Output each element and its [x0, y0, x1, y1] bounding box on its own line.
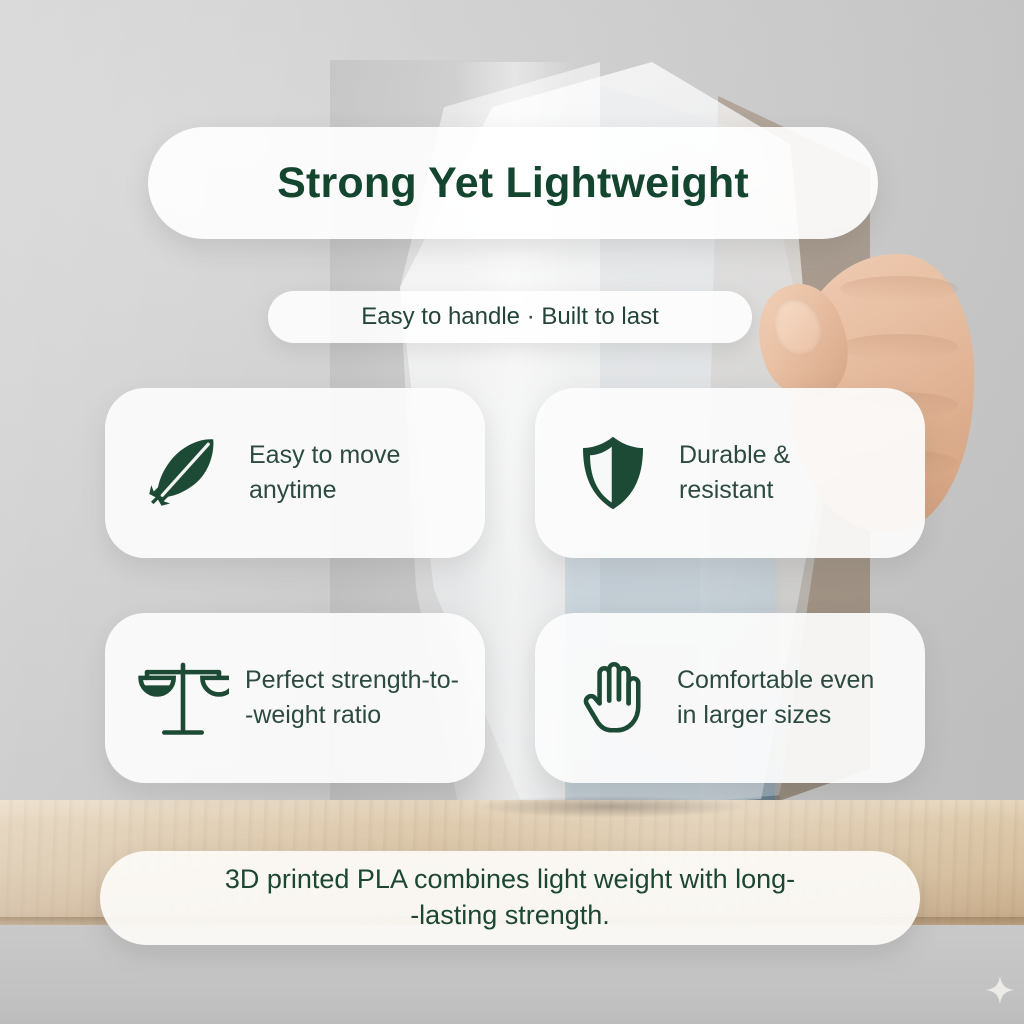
- feature-card-comfortable[interactable]: Comfortable even in larger sizes: [535, 613, 925, 783]
- feature-card-strength-to-weight[interactable]: Perfect strength-to- -weight ratio: [105, 613, 485, 783]
- feature-label: Easy to move anytime: [249, 438, 400, 509]
- caption-text: 3D printed PLA combines light weight wit…: [225, 862, 795, 934]
- feature-label: Comfortable even in larger sizes: [677, 663, 874, 734]
- feature-card-easy-to-move[interactable]: Easy to move anytime: [105, 388, 485, 558]
- caption-pill: 3D printed PLA combines light weight wit…: [100, 851, 920, 945]
- feature-card-durable[interactable]: Durable & resistant: [535, 388, 925, 558]
- shield-icon: [565, 425, 661, 521]
- feature-label: Perfect strength-to- -weight ratio: [245, 663, 463, 734]
- balance-scale-icon: [135, 650, 231, 746]
- feather-icon: [135, 425, 231, 521]
- feature-label: Durable & resistant: [679, 438, 790, 509]
- hand-palm-icon: [565, 650, 661, 746]
- overlay-ui: Strong Yet Lightweight Easy to handle · …: [0, 0, 1024, 1024]
